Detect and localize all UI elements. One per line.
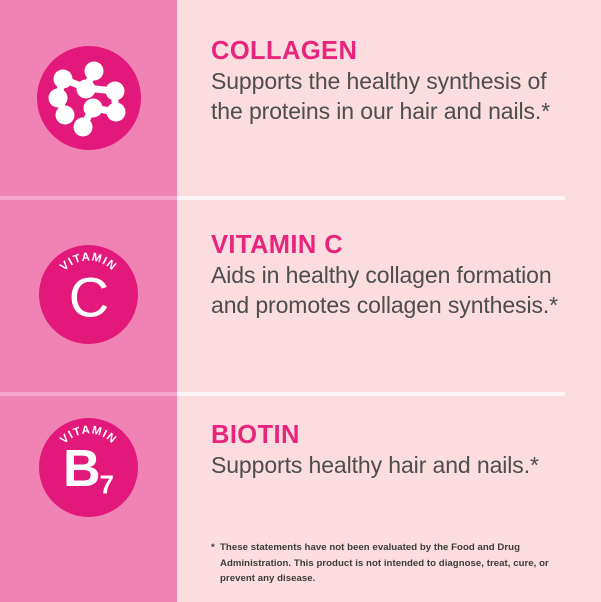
vitamin-letter-main: C (69, 265, 108, 328)
text-cell-collagen: COLLAGEN Supports the healthy synthesis … (177, 0, 601, 196)
ingredient-description: Supports the healthy synthesis of the pr… (211, 67, 583, 127)
ingredient-description: Aids in healthy collagen formation and p… (211, 261, 583, 321)
footnote-disclaimer: * These statements have not been evaluat… (211, 540, 561, 587)
molecule-icon (37, 46, 141, 150)
icon-cell-vitamin-c: VITAMIN C (0, 196, 177, 392)
vitamin-letter-main: B (63, 440, 100, 498)
ingredient-row-biotin: VITAMIN B7 BIOTIN Supports healthy hair … (0, 392, 601, 542)
footnote-text: These statements have not been evaluated… (211, 540, 561, 587)
vitamin-letter-subscript: 7 (100, 470, 114, 500)
vitamin-b7-badge-icon: VITAMIN B7 (39, 418, 138, 517)
footnote-marker: * (211, 540, 215, 556)
section-divider-2-rail (0, 392, 177, 396)
ingredient-name: COLLAGEN (211, 36, 583, 66)
vitamin-badge-letter: C (39, 269, 138, 325)
section-divider-1-rail (0, 196, 177, 200)
vitamin-badge-letter: B7 (39, 443, 138, 498)
ingredient-benefits-infographic: COLLAGEN Supports the healthy synthesis … (0, 0, 601, 602)
icon-cell-collagen (0, 0, 177, 196)
ingredient-name: VITAMIN C (211, 230, 583, 260)
vitamin-c-badge-icon: VITAMIN C (39, 245, 138, 344)
icon-cell-biotin: VITAMIN B7 (0, 392, 177, 542)
text-cell-biotin: BIOTIN Supports healthy hair and nails.* (177, 392, 601, 542)
ingredient-name: BIOTIN (211, 420, 583, 450)
ingredient-description: Supports healthy hair and nails.* (211, 451, 583, 481)
section-divider-2-body (177, 392, 565, 396)
ingredient-row-collagen: COLLAGEN Supports the healthy synthesis … (0, 0, 601, 196)
text-cell-vitamin-c: VITAMIN C Aids in healthy collagen forma… (177, 196, 601, 392)
ingredient-row-vitamin-c: VITAMIN C VITAMIN C Aids in healthy coll… (0, 196, 601, 392)
section-divider-1-body (177, 196, 565, 200)
